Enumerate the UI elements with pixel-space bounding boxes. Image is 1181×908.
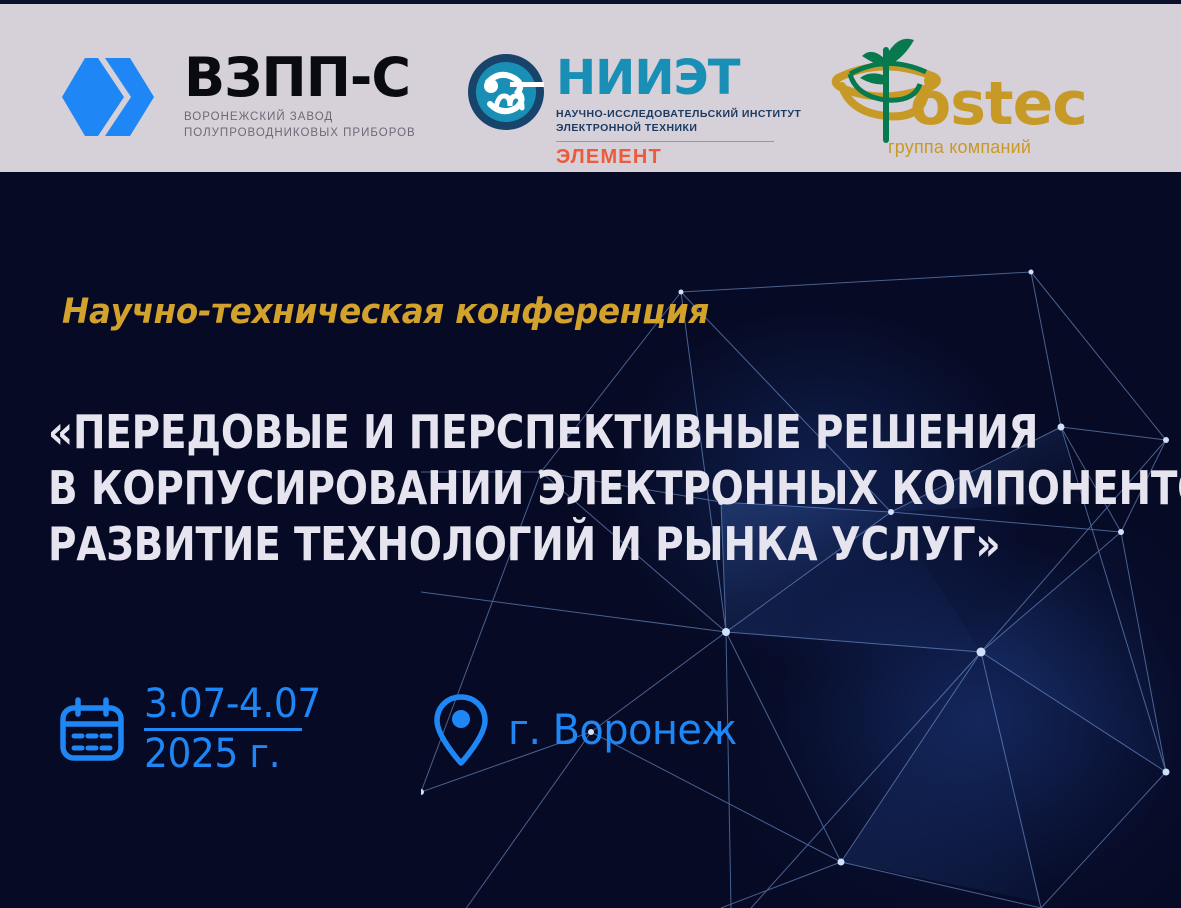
niiet-subtitle-line2: ЭЛЕКТРОННОЙ ТЕХНИКИ xyxy=(556,122,697,134)
hero-section: Научно-техническая конференция «ПЕРЕДОВЫ… xyxy=(0,172,1181,908)
event-meta: 3.07-4.07 2025 г. г. Воронеж xyxy=(58,684,749,775)
logo-vzpp-s[interactable]: ВЗПП-С ВОРОНЕЖСКИЙ ЗАВОД ПОЛУПРОВОДНИКОВ… xyxy=(58,52,416,142)
logo-ostec[interactable]: ostec группа компаний xyxy=(820,20,1110,165)
top-rule xyxy=(0,0,1181,4)
ostec-wordmark: ostec xyxy=(910,74,1087,134)
event-date-year: 2025 г. xyxy=(144,734,280,776)
headline-line-3: РАЗВИТИЕ ТЕХНОЛОГИЙ И РЫНКА УСЛУГ» xyxy=(48,516,982,572)
niiet-tagline: ЭЛЕМЕНТ xyxy=(556,146,801,169)
conference-poster: ВЗПП-С ВОРОНЕЖСКИЙ ЗАВОД ПОЛУПРОВОДНИКОВ… xyxy=(0,0,1181,908)
calendar-icon xyxy=(58,696,126,764)
logo-niiet[interactable]: НИИЭТ НАУЧНО-ИССЛЕДОВАТЕЛЬСКИЙ ИНСТИТУТ … xyxy=(466,50,801,169)
event-date-range: 3.07-4.07 xyxy=(144,684,321,726)
niiet-divider xyxy=(556,141,774,142)
niiet-wordmark: НИИЭТ xyxy=(556,54,801,102)
headline-line-2: В КОРПУСИРОВАНИИ ЭЛЕКТРОННЫХ КОМПОНЕНТОВ… xyxy=(48,460,982,516)
vzpp-arrow-icon xyxy=(58,52,168,142)
vzpp-subtitle-line2: ПОЛУПРОВОДНИКОВЫХ ПРИБОРОВ xyxy=(184,127,416,139)
map-pin-icon xyxy=(432,693,490,767)
headline-line-1: «ПЕРЕДОВЫЕ И ПЕРСПЕКТИВНЫЕ РЕШЕНИЯ xyxy=(48,404,982,460)
sponsor-logo-band: ВЗПП-С ВОРОНЕЖСКИЙ ЗАВОД ПОЛУПРОВОДНИКОВ… xyxy=(0,4,1181,172)
event-location: г. Воронеж xyxy=(432,693,749,767)
kicker-text: Научно-техническая конференция xyxy=(62,292,709,332)
page-title: «ПЕРЕДОВЫЕ И ПЕРСПЕКТИВНЫЕ РЕШЕНИЯ В КОР… xyxy=(48,404,1153,572)
niiet-subtitle-line1: НАУЧНО-ИССЛЕДОВАТЕЛЬСКИЙ ИНСТИТУТ xyxy=(556,108,801,120)
niiet-circle-emblem-icon xyxy=(466,52,546,132)
event-date: 3.07-4.07 2025 г. xyxy=(58,684,332,775)
vzpp-wordmark: ВЗПП-С xyxy=(184,52,416,105)
ostec-subtitle: группа компаний xyxy=(888,137,1031,158)
vzpp-subtitle-line1: ВОРОНЕЖСКИЙ ЗАВОД xyxy=(184,111,333,123)
event-city: г. Воронеж xyxy=(508,705,737,754)
